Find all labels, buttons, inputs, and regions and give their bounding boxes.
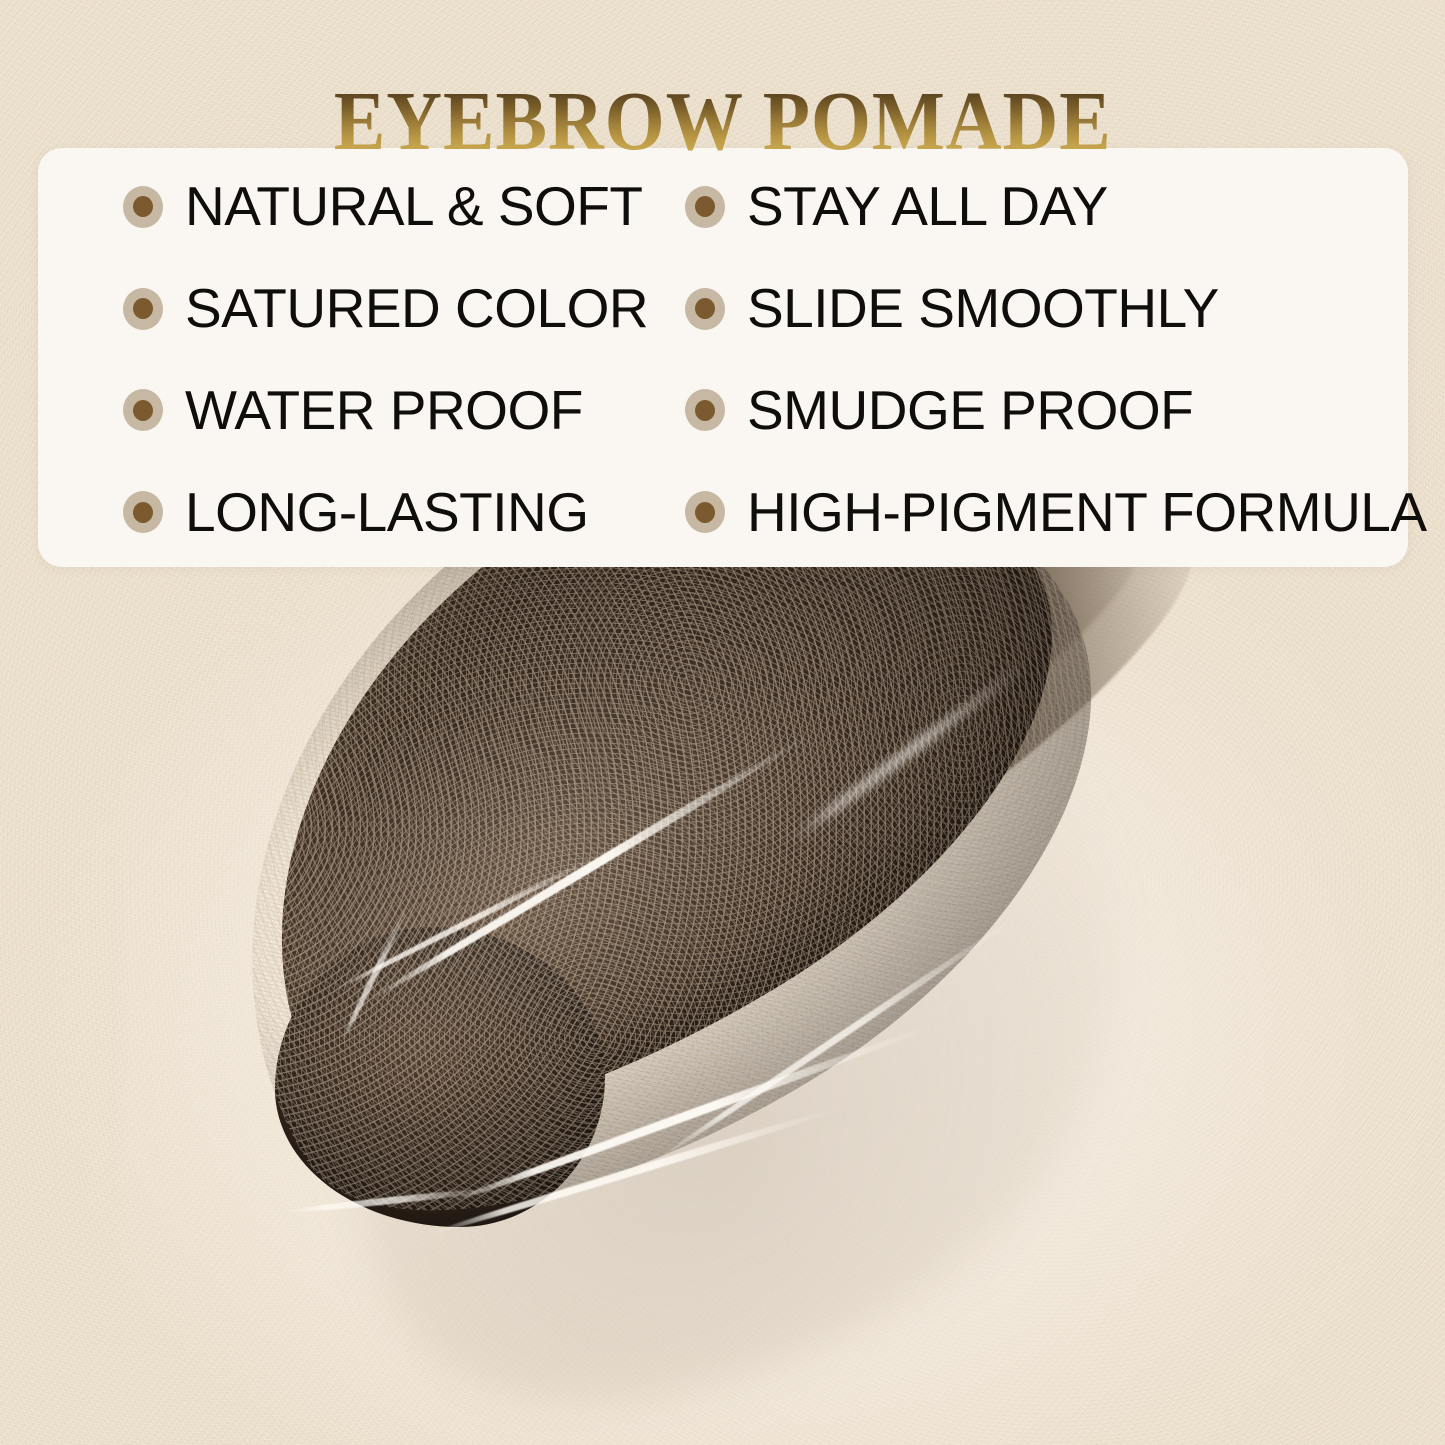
bullet-dot-icon — [685, 288, 725, 330]
feature-item-satured-color: SATURED COLOR — [38, 258, 685, 360]
feature-label: HIGH-PIGMENT FORMULA — [747, 485, 1427, 540]
feature-label: LONG-LASTING — [185, 485, 589, 540]
feature-item-slide-smoothly: SLIDE SMOOTHLY — [685, 258, 1408, 360]
bullet-dot-icon — [685, 491, 725, 533]
bullet-dot-icon — [123, 288, 163, 330]
feature-label: SMUDGE PROOF — [747, 383, 1193, 438]
feature-label: WATER PROOF — [185, 383, 583, 438]
feature-label: SATURED COLOR — [185, 281, 648, 336]
bullet-dot-icon — [123, 491, 163, 533]
swatch-rounded-tail — [275, 927, 605, 1227]
page-title: EYEBROW POMADE — [334, 80, 1112, 164]
feature-item-long-lasting: LONG-LASTING — [38, 461, 685, 563]
pomade-swatch-image — [0, 567, 1445, 1445]
feature-label: SLIDE SMOOTHLY — [747, 281, 1219, 336]
feature-item-smudge-proof: SMUDGE PROOF — [685, 360, 1408, 462]
feature-item-high-pigment-formula: HIGH-PIGMENT FORMULA — [685, 461, 1408, 563]
feature-item-water-proof: WATER PROOF — [38, 360, 685, 462]
bullet-dot-icon — [123, 389, 163, 431]
product-feature-image: EYEBROW POMADE NATURAL & SOFT STAY ALL D… — [0, 0, 1445, 1445]
bullet-dot-icon — [685, 389, 725, 431]
title-container: EYEBROW POMADE — [0, 24, 1445, 221]
